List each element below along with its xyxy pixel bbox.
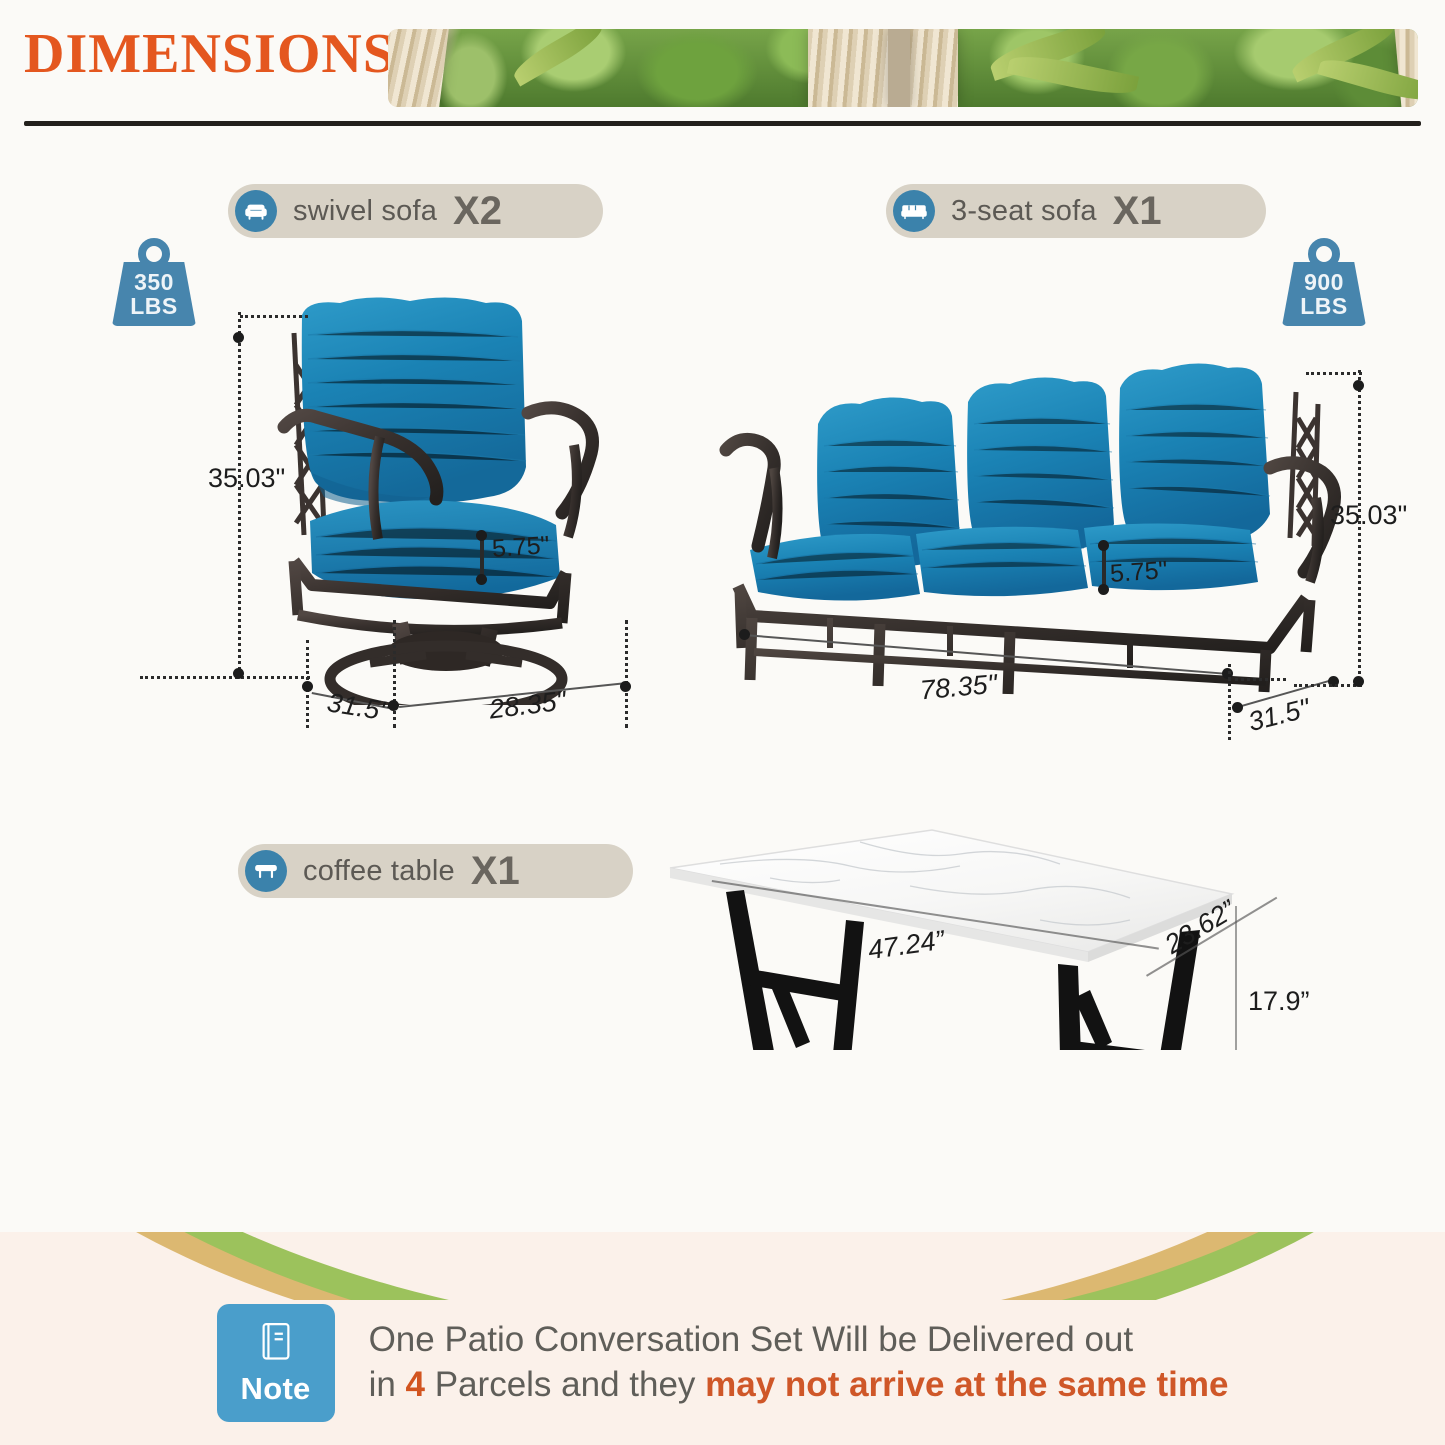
table-icon (245, 850, 287, 892)
dimension-endpoint (1098, 540, 1109, 551)
dimension-label-chair-cushion: 5.75" (491, 531, 550, 564)
note-section: Note One Patio Conversation Set Will be … (0, 1298, 1445, 1428)
dimension-endpoint (1353, 676, 1364, 687)
item-quantity: X2 (453, 189, 502, 234)
dimension-label-sofa-cushion: 5.75" (1109, 556, 1168, 589)
dimension-endpoint (1232, 702, 1243, 713)
item-label: coffee table (303, 855, 455, 888)
note-line-1-text: One Patio Conversation Set Will be Deliv… (369, 1320, 1134, 1359)
header-banner-image (388, 29, 1418, 107)
item-quantity: X1 (1113, 189, 1162, 234)
dimension-line-sofa-corner-guide (1228, 664, 1231, 740)
page-title: DIMENSIONS (24, 22, 395, 86)
palm-frond-icon (1007, 50, 1139, 101)
dimension-endpoint (1353, 380, 1364, 391)
dimension-ext-sofa-depth (1228, 678, 1286, 681)
note-line-2-prefix: in (369, 1365, 406, 1404)
decorative-arc-divider (0, 1050, 1445, 1300)
note-badge: Note (217, 1304, 335, 1422)
item-badge-coffee-table: coffee table X1 (238, 844, 633, 898)
swivel-sofa-illustration (250, 285, 670, 705)
note-warning-text: may not arrive at the same time (705, 1365, 1228, 1404)
item-label: swivel sofa (293, 195, 437, 228)
dimension-endpoint (233, 332, 244, 343)
infographic-page: DIMENSIONS swivel sofa X2 (0, 0, 1445, 1445)
note-line-1: One Patio Conversation Set Will be Deliv… (369, 1318, 1229, 1363)
item-badge-3-seat-sofa: 3-seat sofa X1 (886, 184, 1266, 238)
dimension-line-chair-mid-guide (393, 620, 396, 728)
note-message: One Patio Conversation Set Will be Deliv… (369, 1318, 1229, 1408)
weight-value: 900 (1276, 270, 1372, 294)
palm-frond-icon (509, 29, 607, 87)
header-divider (24, 121, 1421, 126)
item-quantity: X1 (471, 849, 520, 894)
dimension-label-table-height: 17.9” (1248, 986, 1310, 1017)
note-line-2-middle: Parcels and they (425, 1365, 705, 1404)
dimension-label-sofa-height: 35.03" (1330, 500, 1407, 531)
armchair-icon (235, 190, 277, 232)
dimension-label-chair-height: 35.03" (208, 463, 285, 494)
dimension-endpoint (233, 668, 244, 679)
curtain-middle (808, 29, 958, 107)
dimension-ext-sofa-bottom (1294, 684, 1362, 687)
dimension-endpoint (620, 681, 631, 692)
item-badge-swivel-sofa: swivel sofa X2 (228, 184, 603, 238)
weight-unit: LBS (106, 294, 202, 318)
dimension-endpoint (476, 530, 487, 541)
dimension-ext-sofa-top (1306, 372, 1362, 375)
weight-value: 350 (106, 270, 202, 294)
weight-capacity-text: 350 LBS (106, 270, 202, 318)
curtain-left (388, 29, 449, 107)
dimension-line-chair-right-guide (625, 620, 628, 728)
weight-capacity-badge-swivel-sofa: 350 LBS (106, 236, 202, 328)
notebook-icon (256, 1320, 296, 1369)
note-parcel-count: 4 (406, 1365, 425, 1404)
arc-top-mask (0, 1050, 1445, 1232)
dimension-line-chair-height (238, 312, 241, 676)
dimension-endpoint (739, 629, 750, 640)
dimension-endpoint (1098, 584, 1109, 595)
dimension-endpoint (302, 681, 313, 692)
note-badge-label: Note (241, 1371, 311, 1407)
note-line-2: in 4 Parcels and they may not arrive at … (369, 1363, 1229, 1408)
dimension-ext-chair-top (240, 315, 308, 318)
dimension-ext-chair-bottom (140, 676, 310, 679)
item-label: 3-seat sofa (951, 195, 1097, 228)
sofa-icon (893, 190, 935, 232)
curtain-middle-pole (888, 29, 910, 107)
dimension-endpoint (476, 574, 487, 585)
header: DIMENSIONS (0, 0, 1445, 132)
